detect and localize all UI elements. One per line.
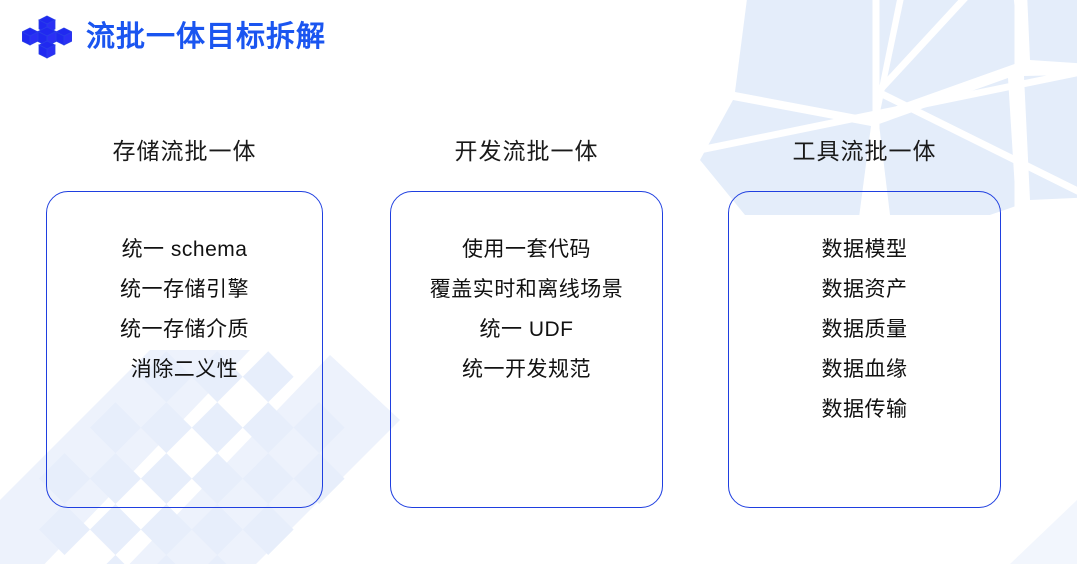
card-storage[interactable]: 统一 schema 统一存储引擎 统一存储介质 消除二义性 (46, 191, 323, 508)
card-item: 统一存储引擎 (120, 270, 249, 310)
card-item: 数据传输 (822, 390, 908, 430)
card-item: 数据血缘 (822, 350, 908, 390)
card-item: 使用一套代码 (462, 230, 591, 270)
card-item: 统一开发规范 (462, 350, 591, 390)
column-title: 存储流批一体 (113, 140, 257, 163)
slide: 流批一体目标拆解 存储流批一体 统一 schema 统一存储引擎 统一存储介质 … (0, 0, 1077, 564)
page-title: 流批一体目标拆解 (86, 22, 326, 54)
slide-header: 流批一体目标拆解 (22, 13, 326, 63)
card-item: 覆盖实时和离线场景 (430, 270, 624, 310)
card-item: 消除二义性 (131, 350, 239, 390)
column-title: 开发流批一体 (455, 140, 599, 163)
columns-container: 存储流批一体 统一 schema 统一存储引擎 统一存储介质 消除二义性 开发流… (0, 140, 1077, 508)
card-item: 统一 schema (122, 230, 248, 270)
card-item: 统一 UDF (480, 310, 574, 350)
column-tooling: 工具流批一体 数据模型 数据资产 数据质量 数据血缘 数据传输 (728, 140, 1001, 508)
card-item: 统一存储介质 (120, 310, 249, 350)
card-item: 数据模型 (822, 230, 908, 270)
card-item: 数据资产 (822, 270, 908, 310)
column-storage: 存储流批一体 统一 schema 统一存储引擎 统一存储介质 消除二义性 (46, 140, 323, 508)
isometric-cube-cross-logo-icon (22, 13, 72, 63)
card-development[interactable]: 使用一套代码 覆盖实时和离线场景 统一 UDF 统一开发规范 (390, 191, 663, 508)
column-development: 开发流批一体 使用一套代码 覆盖实时和离线场景 统一 UDF 统一开发规范 (390, 140, 663, 508)
column-title: 工具流批一体 (793, 140, 937, 163)
card-item: 数据质量 (822, 310, 908, 350)
card-tooling[interactable]: 数据模型 数据资产 数据质量 数据血缘 数据传输 (728, 191, 1001, 508)
